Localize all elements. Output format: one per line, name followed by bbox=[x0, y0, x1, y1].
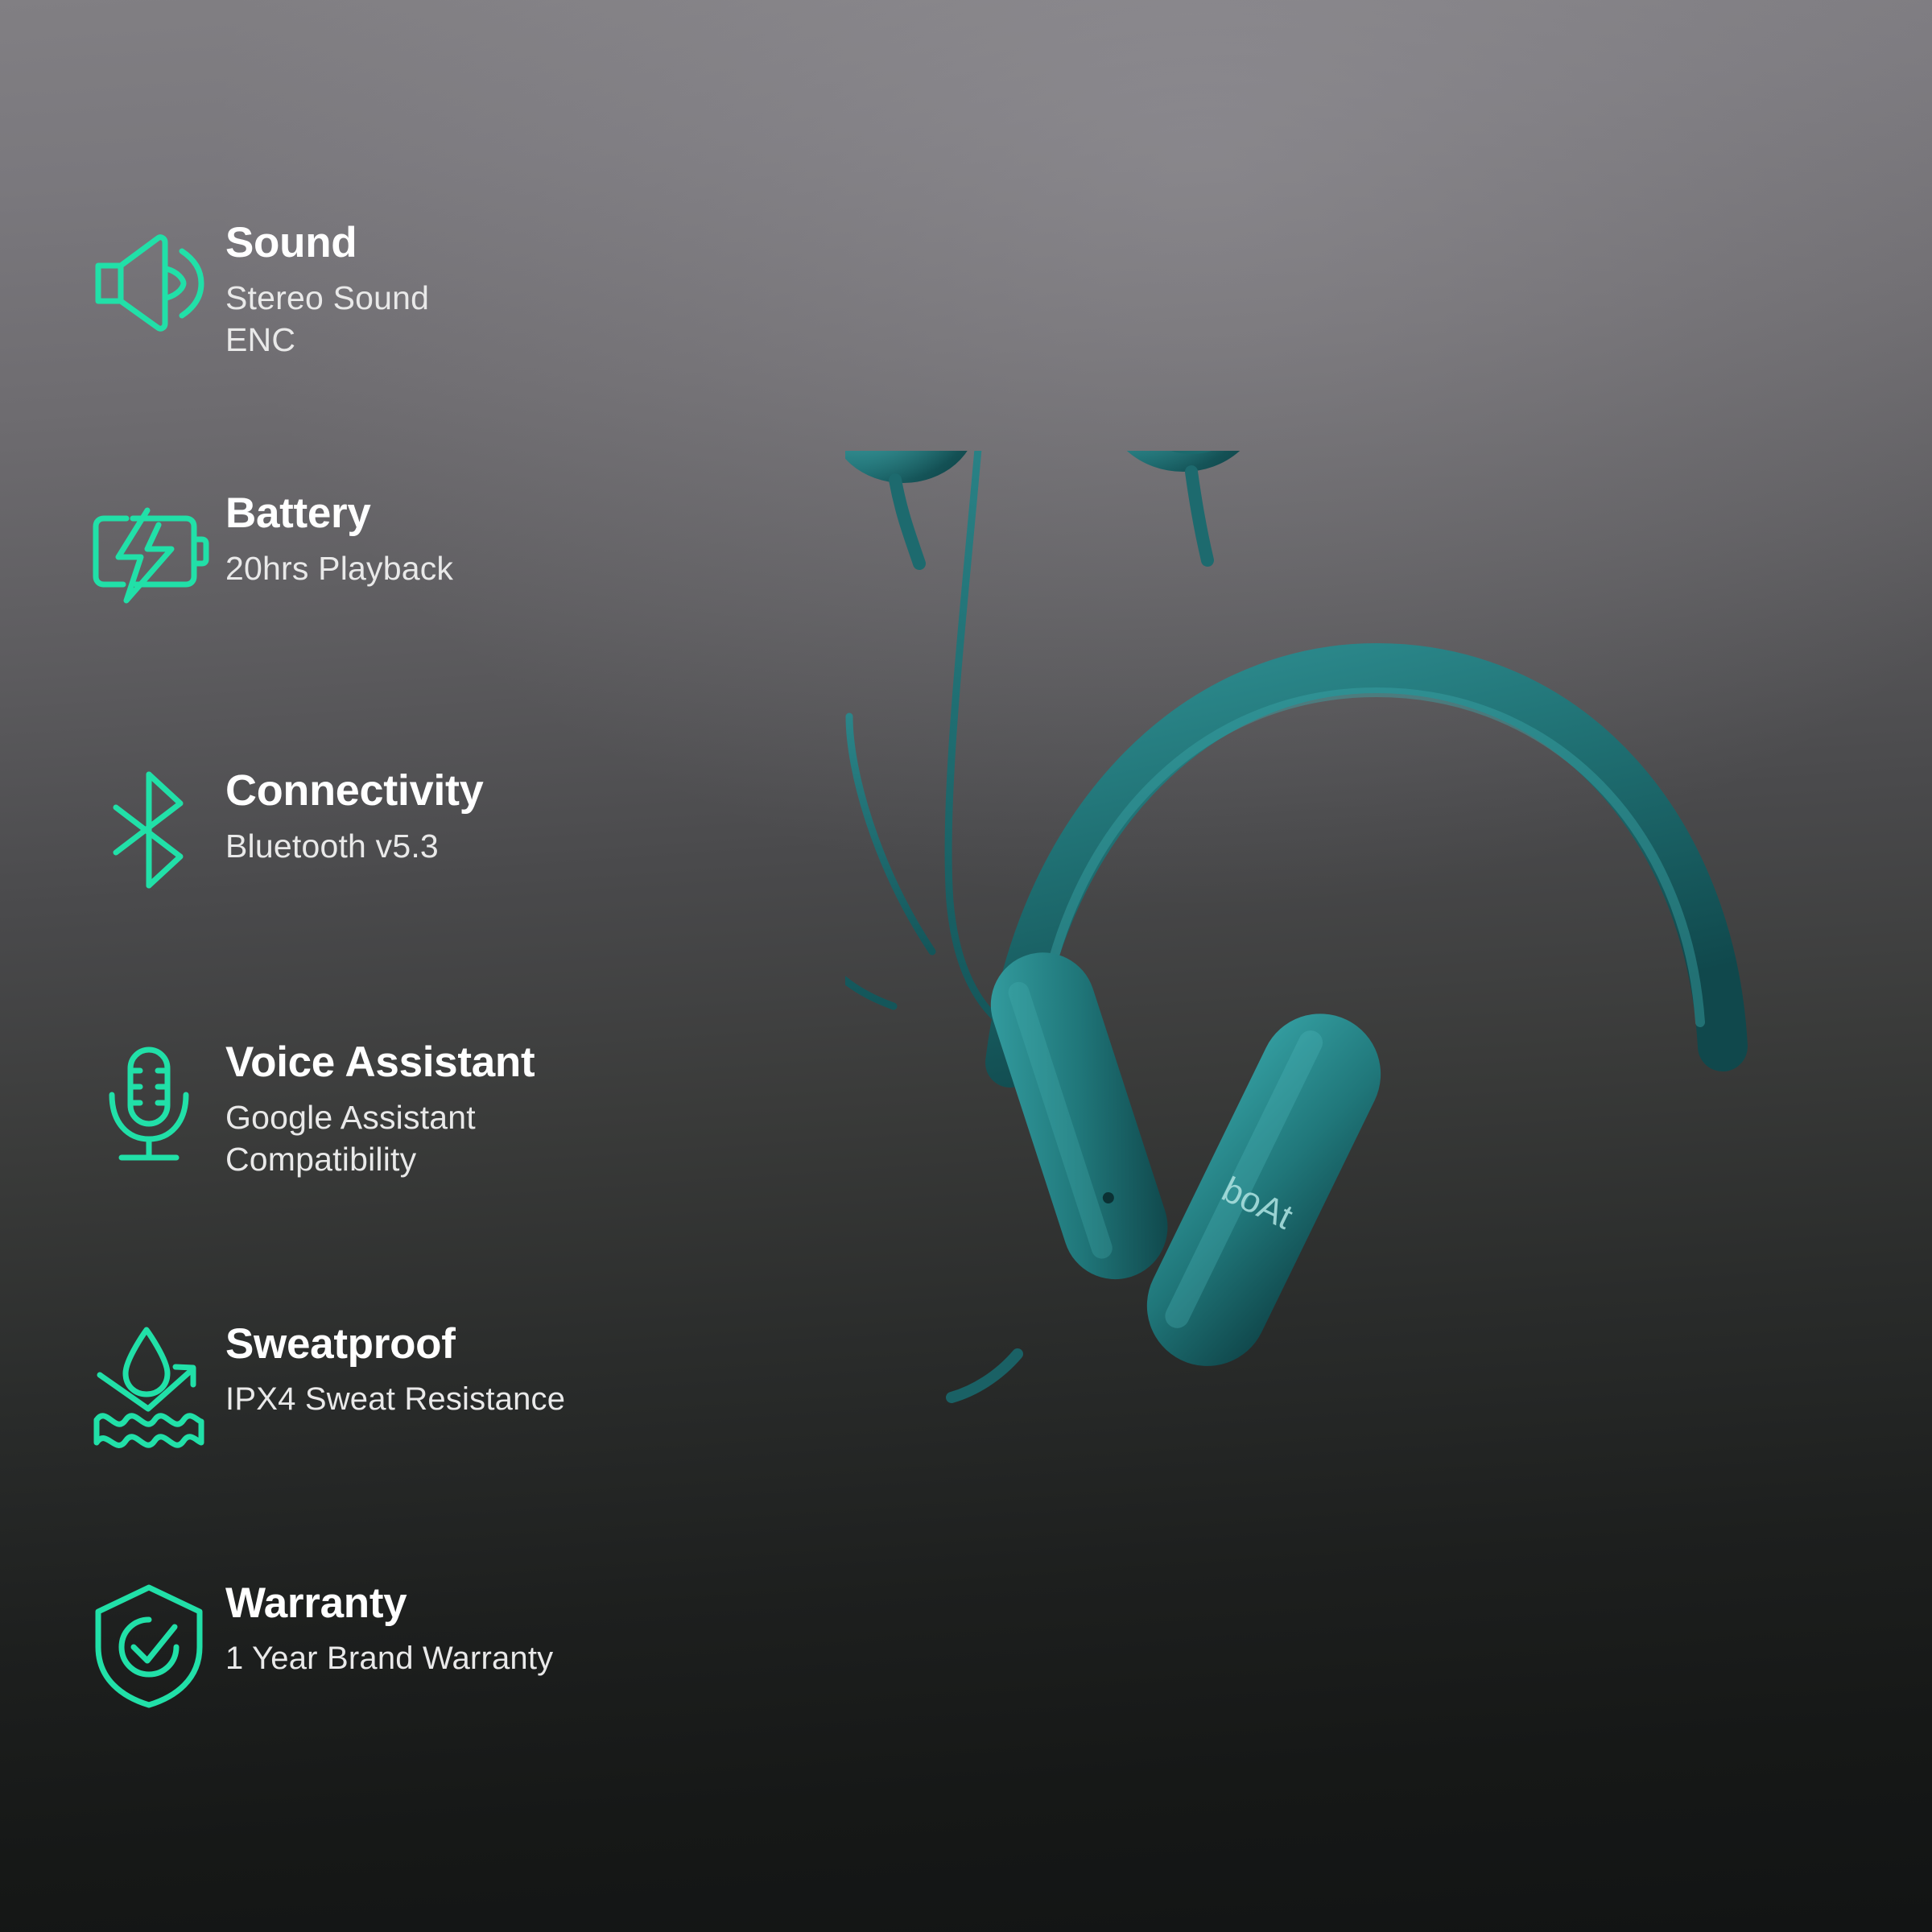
feature-row-warranty: Warranty 1 Year Brand Warranty bbox=[72, 1579, 553, 1710]
feature-text-sound: Sound Stereo Sound ENC bbox=[225, 219, 429, 361]
earbud-right bbox=[1075, 451, 1262, 560]
shield-check-icon bbox=[72, 1579, 225, 1710]
control-pod-left bbox=[977, 939, 1181, 1293]
cable-right-strand bbox=[948, 451, 1018, 1035]
earphone-cables bbox=[849, 716, 932, 952]
neckband-body bbox=[1010, 668, 1723, 1063]
feature-title: Battery bbox=[225, 491, 453, 536]
feature-title: Connectivity bbox=[225, 768, 483, 814]
feature-subtitle: 1 Year Brand Warranty bbox=[225, 1638, 553, 1678]
product-image-neckband-earphones: boAt bbox=[845, 451, 1916, 1505]
feature-title: Sound bbox=[225, 221, 429, 266]
bluetooth-icon bbox=[72, 766, 225, 890]
feature-text-voice-assistant: Voice Assistant Google Assistant Compati… bbox=[225, 1038, 535, 1180]
feature-subtitle: 20hrs Playback bbox=[225, 548, 453, 590]
battery-charging-icon bbox=[72, 489, 225, 604]
feature-title: Warranty bbox=[225, 1581, 553, 1626]
feature-row-battery: Battery 20hrs Playback bbox=[72, 489, 453, 604]
feature-row-sweatproof: Sweatproof IPX4 Sweat Resistance bbox=[72, 1320, 565, 1454]
feature-text-battery: Battery 20hrs Playback bbox=[225, 489, 453, 590]
feature-subtitle: IPX4 Sweat Resistance bbox=[225, 1379, 565, 1419]
feature-title: Voice Assistant bbox=[225, 1040, 535, 1085]
water-droplet-repel-icon bbox=[72, 1320, 225, 1454]
feature-text-connectivity: Connectivity Bluetooth v5.3 bbox=[225, 766, 483, 868]
feature-text-sweatproof: Sweatproof IPX4 Sweat Resistance bbox=[225, 1320, 565, 1420]
feature-subtitle: Bluetooth v5.3 bbox=[225, 826, 483, 868]
feature-subtitle: Stereo Sound ENC bbox=[225, 278, 429, 361]
product-feature-infographic: Sound Stereo Sound ENC Battery 20hrs Pla… bbox=[0, 0, 1932, 1932]
feature-row-connectivity: Connectivity Bluetooth v5.3 bbox=[72, 766, 483, 890]
pod-tail-cable bbox=[952, 1354, 1018, 1397]
feature-title: Sweatproof bbox=[225, 1322, 565, 1367]
feature-row-sound: Sound Stereo Sound ENC bbox=[72, 219, 429, 361]
control-pod-right: boAt bbox=[1127, 993, 1402, 1386]
microphone-icon bbox=[72, 1038, 225, 1167]
speaker-volume-icon bbox=[72, 219, 225, 332]
feature-text-warranty: Warranty 1 Year Brand Warranty bbox=[225, 1579, 553, 1679]
feature-list: Sound Stereo Sound ENC Battery 20hrs Pla… bbox=[0, 0, 853, 1932]
feature-subtitle: Google Assistant Compatibility bbox=[225, 1097, 535, 1180]
earbud-left bbox=[845, 451, 977, 563]
feature-row-voice-assistant: Voice Assistant Google Assistant Compati… bbox=[72, 1038, 535, 1180]
